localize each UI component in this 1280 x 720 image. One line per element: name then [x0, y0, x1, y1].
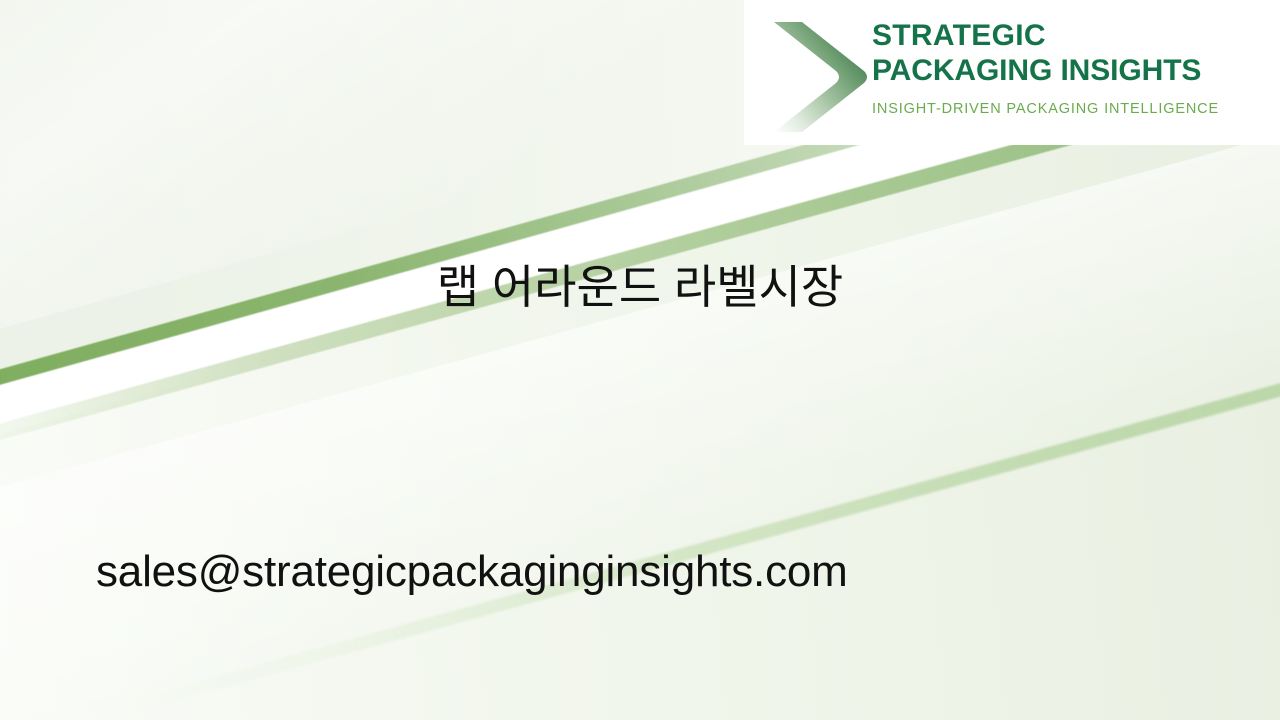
logo-tagline: INSIGHT-DRIVEN PACKAGING INTELLIGENCE	[872, 101, 1272, 117]
bottom-right-wedge-sheen	[0, 95, 1280, 720]
slide-title: 랩 어라운드 라벨시장	[0, 258, 1280, 316]
logo-wordmark: STRATEGIC PACKAGING INSIGHTS INSIGHT-DRI…	[872, 18, 1272, 117]
logo-name-line-1: STRATEGIC	[872, 18, 1272, 53]
slide-canvas: STRATEGIC PACKAGING INSIGHTS INSIGHT-DRI…	[0, 0, 1280, 720]
logo-name-line-2: PACKAGING INSIGHTS	[872, 53, 1272, 88]
company-logo: STRATEGIC PACKAGING INSIGHTS INSIGHT-DRI…	[744, 0, 1280, 145]
chevron-mark-icon	[766, 16, 870, 138]
contact-email[interactable]: sales@strategicpackaginginsights.com	[96, 546, 848, 598]
bottom-right-green-band-secondary	[130, 365, 1280, 712]
